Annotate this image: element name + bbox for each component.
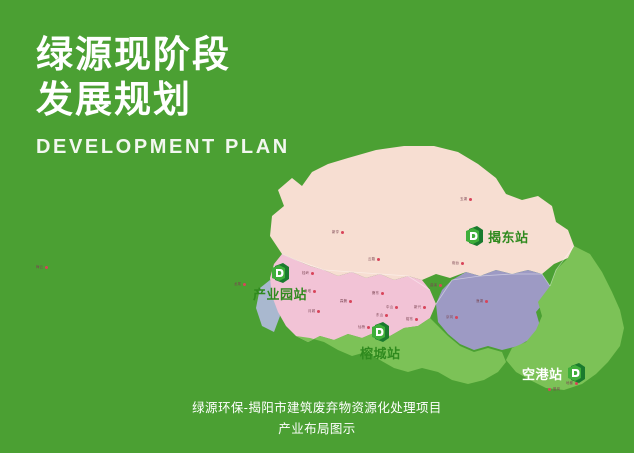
lvyuan-logo-icon xyxy=(568,363,585,383)
station-marker-chanyeyuan[interactable]: 产业园站 xyxy=(253,263,307,303)
city-dot-icon xyxy=(548,388,551,391)
city-marker: 炮台 xyxy=(452,262,464,265)
city-dot-icon xyxy=(381,292,384,295)
station-marker-rongcheng[interactable]: 榕城站 xyxy=(360,322,401,362)
city-dot-icon xyxy=(415,318,418,321)
poster-canvas: 绿源现阶段 发展规划 DEVELOPMENT PLAN xyxy=(0,0,634,453)
station-marker-jiedong[interactable]: 揭东站 xyxy=(466,226,529,246)
city-dot-icon xyxy=(455,316,458,319)
city-dot-icon xyxy=(45,266,48,269)
city-marker: 月城 xyxy=(308,310,320,313)
city-dot-icon xyxy=(485,300,488,303)
city-marker: 霖磐 xyxy=(340,300,352,303)
city-dot-icon xyxy=(439,284,442,287)
lvyuan-logo-icon xyxy=(466,226,483,246)
city-dot-icon xyxy=(243,283,246,286)
city-marker: 玉湖 xyxy=(460,198,472,201)
station-label: 榕城站 xyxy=(360,343,401,362)
city-marker: 京冈 xyxy=(446,316,458,319)
city-marker: 龙尾 xyxy=(234,283,246,286)
city-marker: 登岗 xyxy=(548,388,560,391)
page-title-line-1: 绿源现阶段 xyxy=(36,32,366,77)
city-dot-icon xyxy=(317,310,320,313)
city-marker: 云路 xyxy=(368,258,380,261)
station-marker-konggang[interactable]: 空港站 xyxy=(522,363,585,383)
city-dot-icon xyxy=(313,290,316,293)
city-dot-icon xyxy=(469,198,472,201)
city-marker: 榕东 xyxy=(406,318,418,321)
city-dot-icon xyxy=(377,258,380,261)
city-marker: 梅云 xyxy=(36,266,48,269)
page-title-line-2: 发展规划 xyxy=(36,77,366,122)
caption-line-1: 绿源环保-揭阳市建筑废弃物资源化处理项目 xyxy=(0,398,634,419)
lvyuan-logo-icon xyxy=(372,322,389,342)
lvyuan-logo-icon xyxy=(272,263,289,283)
city-dot-icon xyxy=(423,306,426,309)
city-marker: 东山 xyxy=(376,314,388,317)
caption-block: 绿源环保-揭阳市建筑废弃物资源化处理项目 产业布局图示 xyxy=(0,398,634,439)
city-marker: 渔湖 xyxy=(476,300,488,303)
map-region-north xyxy=(270,146,574,280)
city-dot-icon xyxy=(311,272,314,275)
station-label: 揭东站 xyxy=(488,227,529,246)
city-marker: 磐东 xyxy=(372,292,384,295)
caption-line-2: 产业布局图示 xyxy=(0,419,634,440)
city-dot-icon xyxy=(461,262,464,265)
city-dot-icon xyxy=(341,231,344,234)
city-marker: 新兴 xyxy=(414,306,426,309)
city-marker: 中山 xyxy=(386,306,398,309)
city-marker: 新亨 xyxy=(332,231,344,234)
station-label: 空港站 xyxy=(522,364,563,383)
city-dot-icon xyxy=(385,314,388,317)
city-dot-icon xyxy=(395,306,398,309)
city-marker: 曲溪 xyxy=(430,284,442,287)
city-dot-icon xyxy=(349,300,352,303)
station-label: 产业园站 xyxy=(253,284,307,303)
